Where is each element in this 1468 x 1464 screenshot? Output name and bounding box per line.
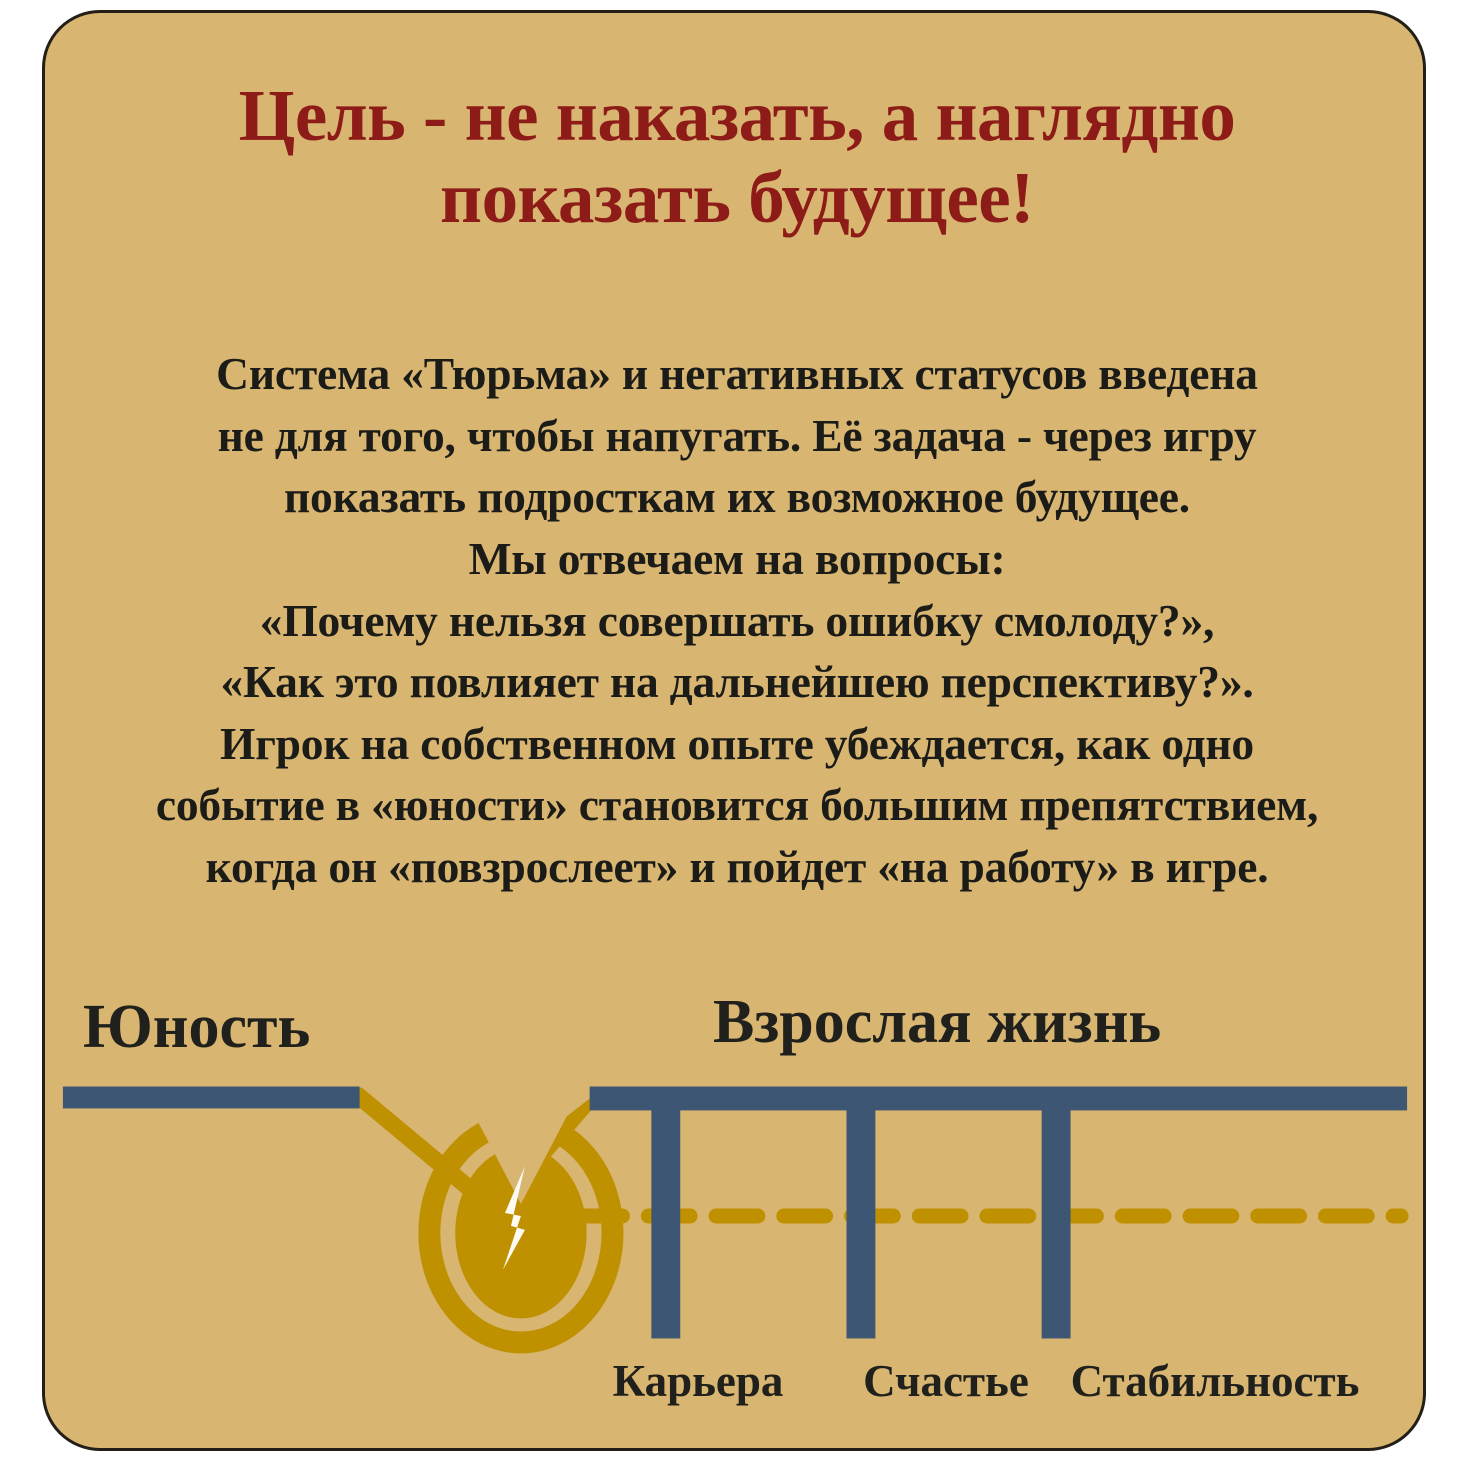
stage-label-adult: Взрослая жизнь (713, 991, 1161, 1053)
body-line: когда он «повзрослеет» и пойдет «на рабо… (63, 836, 1411, 898)
page-title-line-1: Цель - не наказать, а наглядно (105, 75, 1369, 157)
page-title: Цель - не наказать, а наглядно показать … (105, 75, 1369, 239)
body-paragraph: Система «Тюрьма» и негативных статусов в… (63, 343, 1411, 898)
youth-platform (63, 1087, 360, 1109)
body-line: показать подросткам их возможное будущее… (63, 466, 1411, 528)
page-title-line-2: показать будущее! (105, 157, 1369, 239)
pillar-label-stability: Стабильность (1045, 1359, 1385, 1404)
lightning-crack-icon (503, 1166, 525, 1270)
pillar-post-happiness (847, 1108, 876, 1338)
poster-card: Цель - не наказать, а наглядно показать … (42, 10, 1426, 1451)
body-line: не для того, чтобы напугать. Её задача -… (63, 405, 1411, 467)
body-line: Игрок на собственном опыте убеждается, к… (63, 713, 1411, 775)
body-line: Мы отвечаем на вопросы: (63, 528, 1411, 590)
body-line: событие в «юности» становится большим пр… (63, 774, 1411, 836)
pillar-label-career: Карьера (603, 1359, 793, 1404)
body-line: «Как это повлияет на дальнейшею перспект… (63, 651, 1411, 713)
body-line: «Почему нельзя совершать ошибку смолоду?… (63, 590, 1411, 652)
stage-label-youth: Юность (83, 996, 310, 1058)
pillar-label-happiness: Счастье (851, 1359, 1041, 1404)
adult-platform (590, 1087, 1407, 1111)
body-line: Система «Тюрьма» и негативных статусов в… (63, 343, 1411, 405)
broken-coin-icon (429, 1089, 612, 1343)
gold-diagonal-right-icon (521, 1093, 595, 1178)
gold-diagonal-left-icon (356, 1093, 475, 1193)
pillar-post-career (651, 1108, 680, 1338)
pillar-post-stability (1042, 1108, 1071, 1338)
